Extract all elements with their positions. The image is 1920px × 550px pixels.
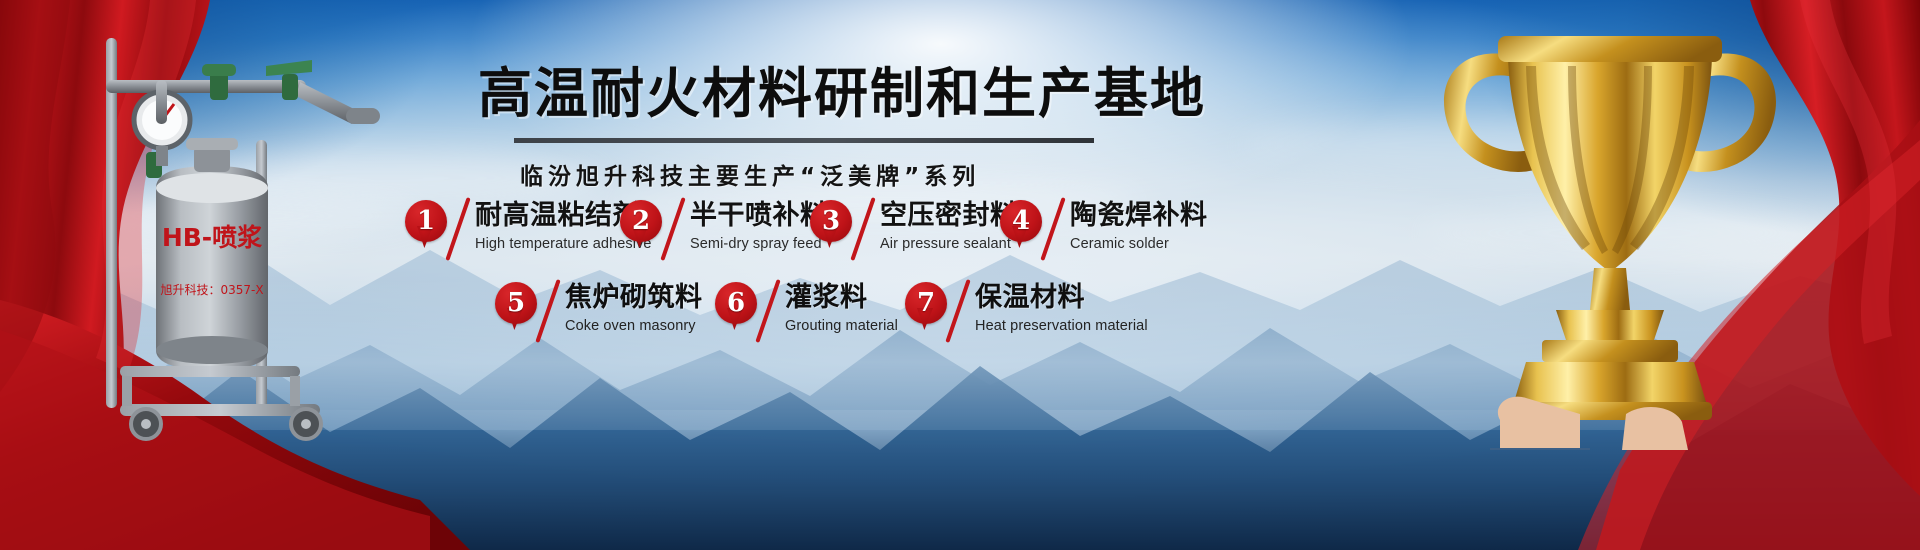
page-subtitle: 临汾旭升科技主要生产“泛美牌”系列 (520, 162, 1110, 192)
product-name-en: Air pressure sealant (880, 234, 1018, 254)
product-item-7[interactable]: 7 保温材料 Heat preservation material (905, 282, 1148, 344)
product-name-cn: 空压密封料 (880, 200, 1018, 231)
product-item-3[interactable]: 3 空压密封料 Air pressure sealant (810, 200, 1018, 262)
slash-divider-icon (1042, 200, 1068, 262)
product-item-6[interactable]: 6 灌浆料 Grouting material (715, 282, 898, 344)
product-name-en: Ceramic solder (1070, 234, 1208, 254)
product-item-5[interactable]: 5 焦炉砌筑料 Coke oven masonry (495, 282, 703, 344)
title-divider (514, 138, 1094, 143)
number-badge-icon: 6 (715, 282, 757, 326)
number-badge-icon: 4 (1000, 200, 1042, 244)
slash-divider-icon (447, 200, 473, 262)
product-name-en: Heat preservation material (975, 316, 1148, 336)
number-badge-icon: 5 (495, 282, 537, 326)
product-name-en: Coke oven masonry (565, 316, 703, 336)
slash-divider-icon (537, 282, 563, 344)
number-badge-icon: 7 (905, 282, 947, 326)
product-name-cn: 灌浆料 (785, 282, 898, 313)
promo-banner: HB-喷浆 旭升科技：0357-X 高温耐火材料研制和生产基地 临汾旭升科技主要… (0, 0, 1920, 550)
number-badge-icon: 3 (810, 200, 852, 244)
product-name-cn: 半干喷补料 (690, 200, 828, 231)
product-name-cn: 保温材料 (975, 282, 1148, 313)
number-badge-icon: 2 (620, 200, 662, 244)
product-list: 1 耐高温粘结剂 High temperature adhesive 2 半干喷… (405, 200, 1225, 350)
slash-divider-icon (947, 282, 973, 344)
slash-divider-icon (852, 200, 878, 262)
product-item-1[interactable]: 1 耐高温粘结剂 High temperature adhesive (405, 200, 652, 262)
product-item-4[interactable]: 4 陶瓷焊补料 Ceramic solder (1000, 200, 1208, 262)
slash-divider-icon (757, 282, 783, 344)
product-name-cn: 陶瓷焊补料 (1070, 200, 1208, 231)
product-name-en: Grouting material (785, 316, 898, 336)
product-name-en: Semi-dry spray feed (690, 234, 828, 254)
banner-content: 高温耐火材料研制和生产基地 临汾旭升科技主要生产“泛美牌”系列 1 耐高温粘结剂… (0, 0, 1920, 550)
product-name-cn: 焦炉砌筑料 (565, 282, 703, 313)
number-badge-icon: 1 (405, 200, 447, 244)
page-title: 高温耐火材料研制和生产基地 (478, 62, 1138, 124)
product-item-2[interactable]: 2 半干喷补料 Semi-dry spray feed (620, 200, 828, 262)
slash-divider-icon (662, 200, 688, 262)
